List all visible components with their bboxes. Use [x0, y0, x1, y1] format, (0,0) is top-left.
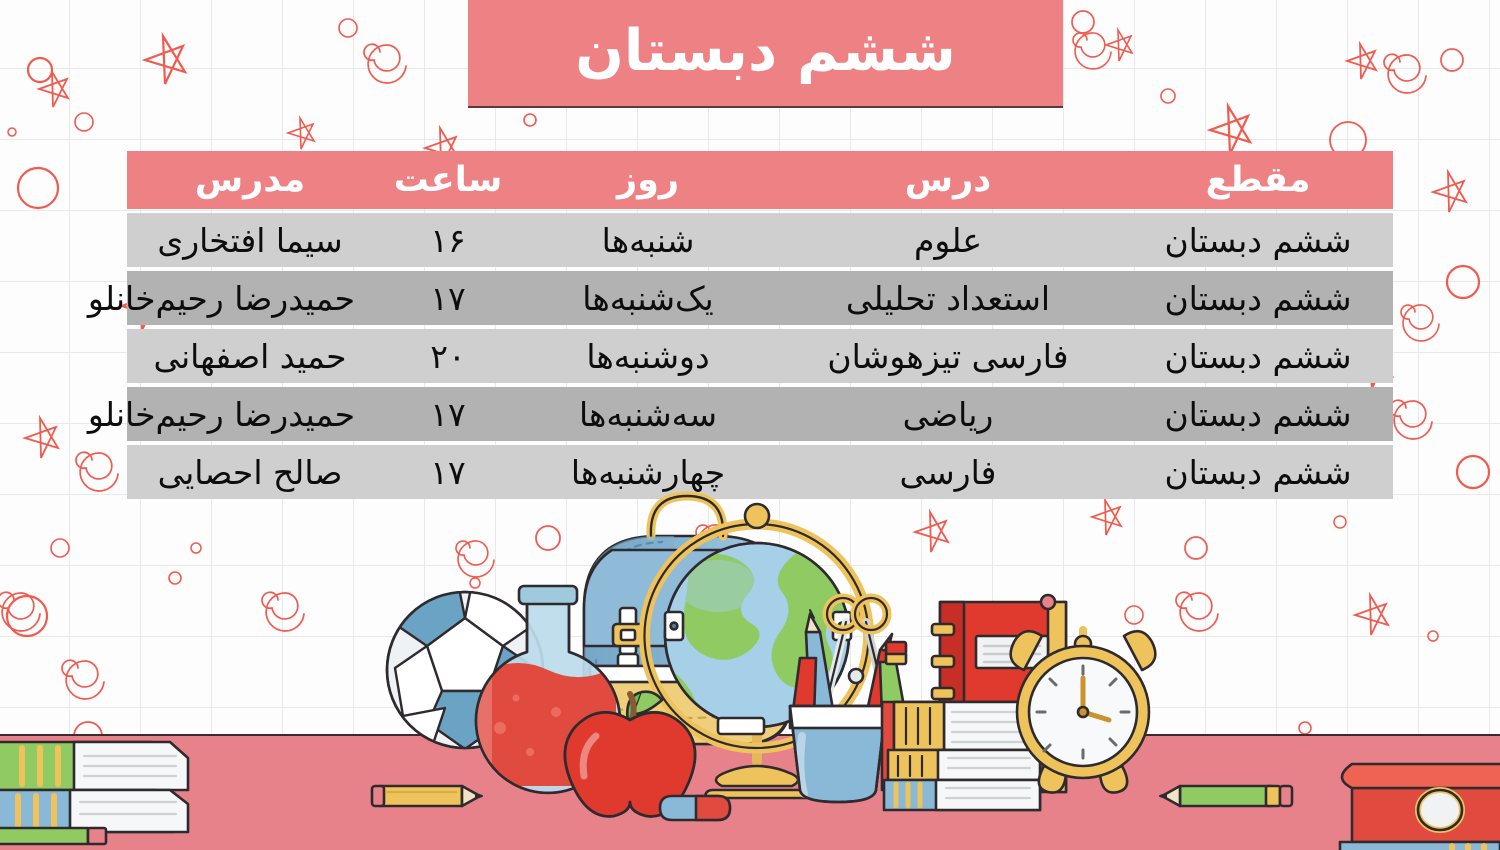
cell-subject: علوم — [773, 213, 1123, 267]
cell-level: ششم دبستان — [1123, 387, 1393, 441]
cell-subject: استعداد تحلیلی — [773, 271, 1123, 325]
slide-canvas: ششم دبستان مقطع درس روز ساعت مدرس ششم دب… — [0, 0, 1500, 850]
cell-day: شنبه‌ها — [523, 213, 773, 267]
table-header-row: مقطع درس روز ساعت مدرس — [127, 151, 1393, 209]
table-row[interactable]: ششم دبستان ریاضی سه‌شنبه‌ها ۱۷ حمیدرضا ر… — [127, 387, 1393, 441]
books-right-icon — [1340, 764, 1500, 850]
column-header-subject[interactable]: درس — [773, 151, 1123, 209]
table-row[interactable]: ششم دبستان استعداد تحلیلی یک‌شنبه‌ها ۱۷ … — [127, 271, 1393, 325]
pencil-icon — [1160, 786, 1292, 806]
table-body: ششم دبستان علوم شنبه‌ها ۱۶ سیما افتخاری … — [127, 213, 1393, 499]
cell-hour: ۱۷ — [373, 387, 523, 441]
school-supplies-illustration — [0, 490, 1500, 850]
column-header-level[interactable]: مقطع — [1123, 151, 1393, 209]
page-title: ششم دبستان — [575, 23, 956, 80]
slide-title-banner: ششم دبستان — [468, 0, 1063, 108]
cell-day: سه‌شنبه‌ها — [523, 387, 773, 441]
cell-hour: ۱۷ — [373, 271, 523, 325]
column-header-teacher[interactable]: مدرس — [127, 151, 373, 209]
cell-teacher: حمید اصفهانی — [127, 329, 373, 383]
pencil-icon — [372, 786, 482, 806]
eraser-icon — [660, 796, 730, 820]
cell-level: ششم دبستان — [1123, 213, 1393, 267]
cell-teacher: حمیدرضا رحیم‌خانلو — [127, 387, 373, 441]
cell-day: یک‌شنبه‌ها — [523, 271, 773, 325]
table-header: مقطع درس روز ساعت مدرس — [127, 151, 1393, 209]
schedule-table: مقطع درس روز ساعت مدرس ششم دبستان علوم ش… — [127, 147, 1393, 503]
cell-hour: ۲۰ — [373, 329, 523, 383]
cell-level: ششم دبستان — [1123, 329, 1393, 383]
cell-hour: ۱۶ — [373, 213, 523, 267]
cell-subject: ریاضی — [773, 387, 1123, 441]
books-left-icon — [0, 742, 188, 844]
cell-subject: فارسی تیزهوشان — [773, 329, 1123, 383]
column-header-hour[interactable]: ساعت — [373, 151, 523, 209]
cell-day: دوشنبه‌ها — [523, 329, 773, 383]
illustration-svg — [0, 490, 1500, 850]
table-row[interactable]: ششم دبستان علوم شنبه‌ها ۱۶ سیما افتخاری — [127, 213, 1393, 267]
cell-level: ششم دبستان — [1123, 271, 1393, 325]
schedule-table-wrapper: مقطع درس روز ساعت مدرس ششم دبستان علوم ش… — [127, 147, 1393, 503]
cell-teacher: حمیدرضا رحیم‌خانلو — [127, 271, 373, 325]
column-header-day[interactable]: روز — [523, 151, 773, 209]
table-row[interactable]: ششم دبستان فارسی تیزهوشان دوشنبه‌ها ۲۰ ح… — [127, 329, 1393, 383]
cell-teacher: سیما افتخاری — [127, 213, 373, 267]
